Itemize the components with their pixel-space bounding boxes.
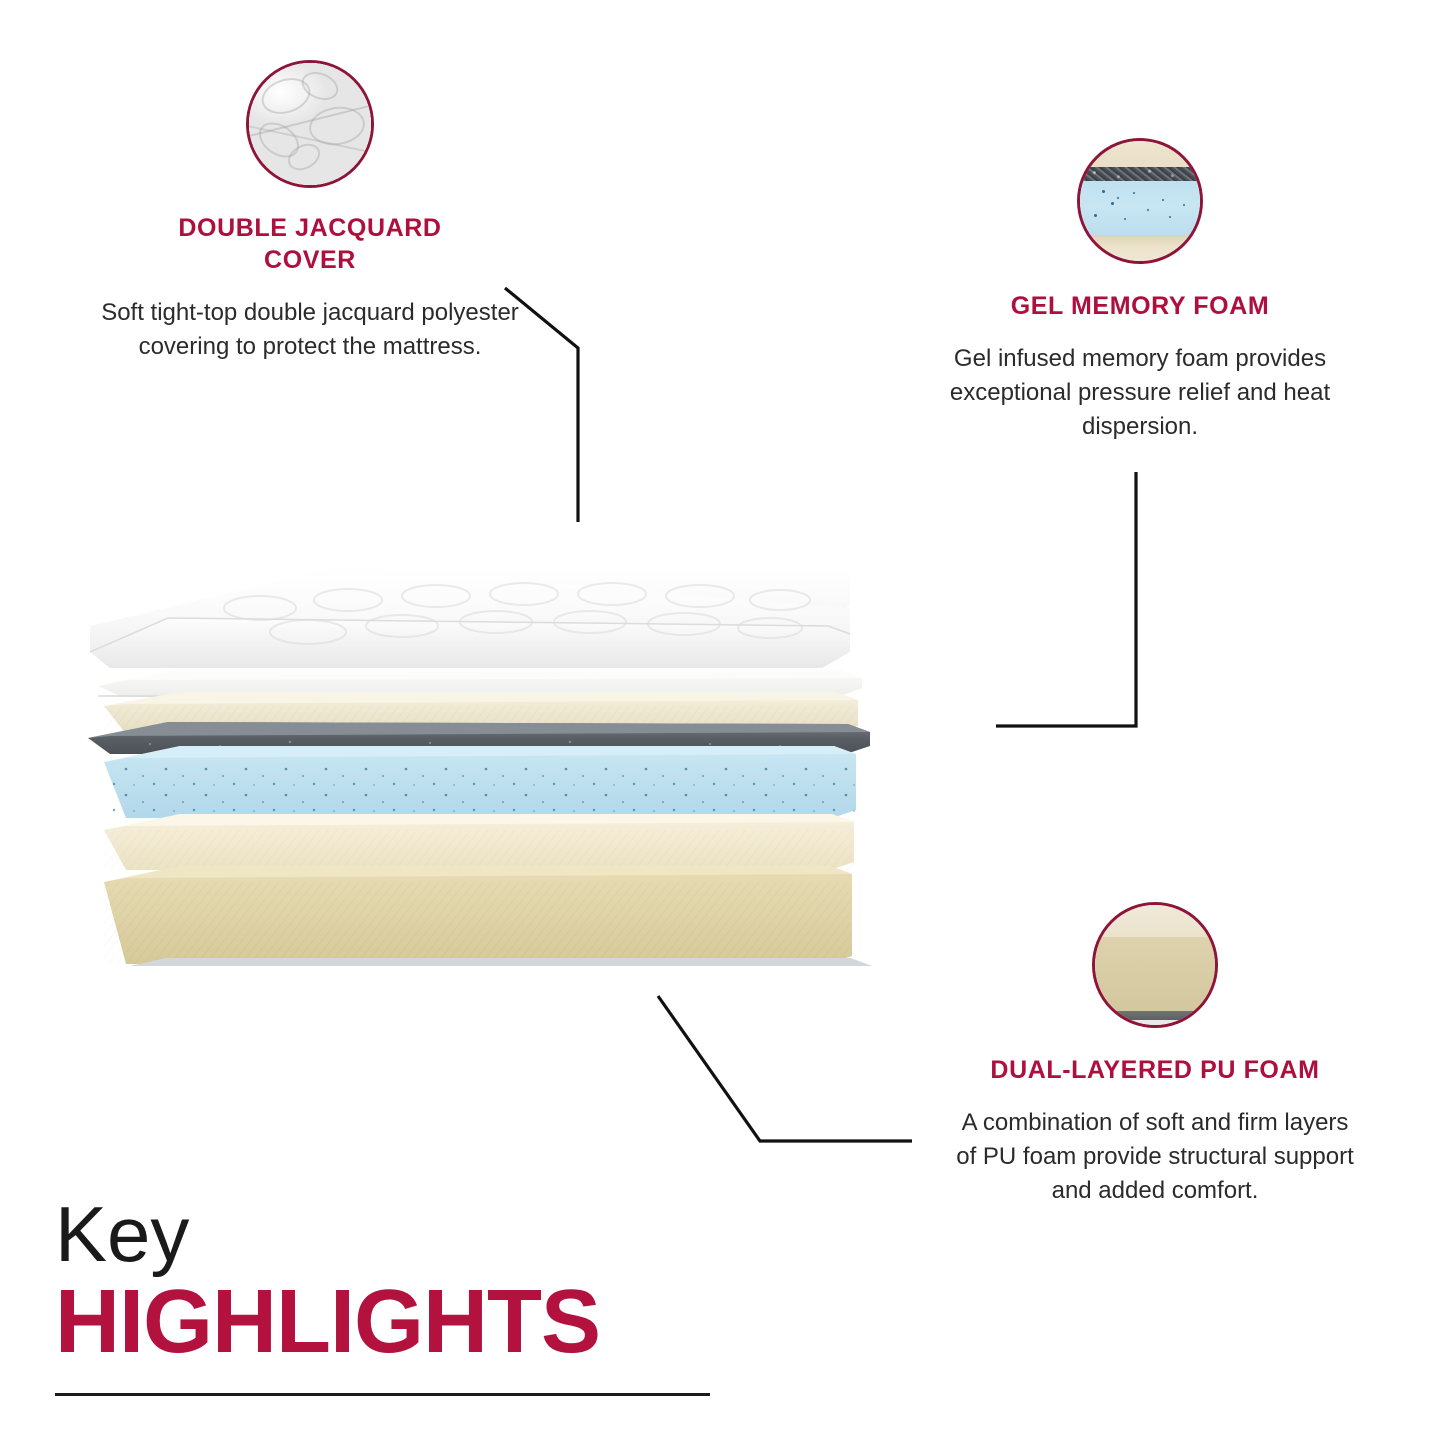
callout-body-gel: Gel infused memory foam provides excepti… <box>940 342 1340 444</box>
callout-title-pu: DUAL-LAYERED PU FOAM <box>990 1054 1320 1086</box>
layer-firm-pu-foam <box>104 866 852 964</box>
gel-memory-foam-swatch-icon <box>1077 138 1203 264</box>
callout-dual-layered-pu-foam: DUAL-LAYERED PU FOAM A combination of so… <box>945 902 1365 1208</box>
connector-line-gel <box>996 472 1136 726</box>
layer-gel-memory-foam <box>104 746 856 818</box>
callout-body-cover: Soft tight-top double jacquard polyester… <box>100 296 520 364</box>
layer-soft-pu-foam <box>104 814 854 870</box>
title-underline <box>55 1393 710 1396</box>
jacquard-texture <box>249 63 371 185</box>
callout-double-jacquard-cover: DOUBLE JACQUARD COVER Soft tight-top dou… <box>60 60 560 364</box>
gel-foam-texture <box>1080 141 1200 261</box>
page-title-highlights: HIGHLIGHTS <box>55 1277 715 1367</box>
connector-line-pu <box>658 996 912 1141</box>
callout-body-pu: A combination of soft and firm layers of… <box>955 1106 1355 1208</box>
pu-foam-texture <box>1095 905 1215 1025</box>
callout-title-cover: DOUBLE JACQUARD COVER <box>145 212 475 276</box>
infographic-canvas: DOUBLE JACQUARD COVER Soft tight-top dou… <box>0 0 1445 1445</box>
callout-gel-memory-foam: GEL MEMORY FOAM Gel infused memory foam … <box>930 138 1350 444</box>
page-title-block: Key HIGHLIGHTS <box>55 1195 715 1396</box>
jacquard-cover-swatch-icon <box>246 60 374 188</box>
mattress-cutaway-illustration <box>80 556 880 966</box>
layer-support-base-core <box>86 958 872 966</box>
pu-foam-swatch-icon <box>1092 902 1218 1028</box>
page-title-key: Key <box>55 1195 715 1273</box>
callout-title-gel: GEL MEMORY FOAM <box>930 290 1350 322</box>
layer-quilted-top-cover <box>90 566 850 668</box>
